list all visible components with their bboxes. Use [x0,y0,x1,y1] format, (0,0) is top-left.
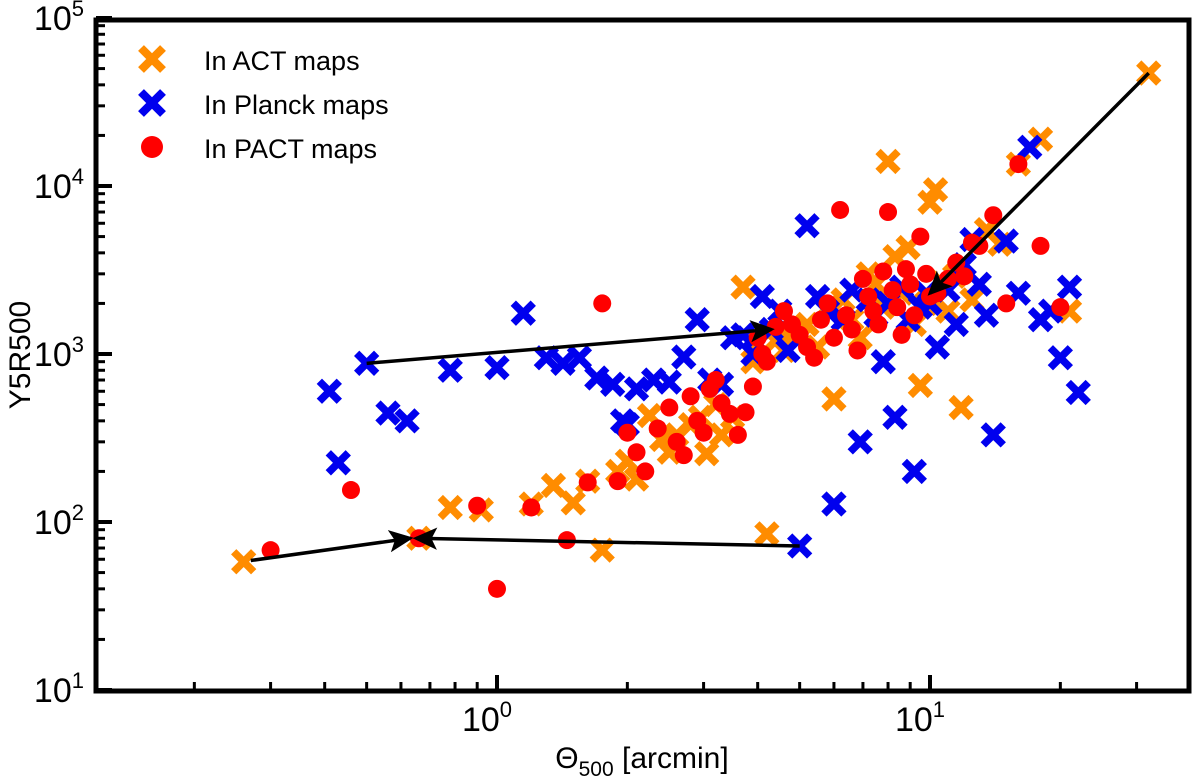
legend-label: In ACT maps [204,46,360,76]
data-point-circle [767,318,785,336]
legend-label: In Planck maps [204,90,389,120]
data-point-circle [628,443,646,461]
data-point-circle [342,481,360,499]
data-point-circle [579,473,597,491]
legend-circle-marker [141,136,163,158]
data-point-circle [805,349,823,367]
data-point-circle [1032,237,1050,255]
data-point-circle [843,320,861,338]
x-axis-label-unit: [arcmin] [614,742,729,775]
data-point-circle [488,580,506,598]
data-point-circle [831,201,849,219]
data-point-circle [593,294,611,312]
data-point-circle [848,341,866,359]
data-point-circle [901,275,919,293]
data-point-circle [758,353,776,371]
data-point-circle [729,426,747,444]
data-point-circle [893,326,911,344]
data-point-circle [468,497,486,515]
data-point-circle [744,378,762,396]
data-point-circle [1009,155,1027,173]
figure-container: 100101101102103104105 Θ500 [arcmin] Y5R5… [0,0,1200,784]
data-point-circle [675,446,693,464]
plot-background [0,0,1200,784]
x-axis-label-subscript: 500 [579,758,614,781]
data-point-circle [660,399,678,417]
data-point-circle [997,294,1015,312]
data-point-circle [884,281,902,299]
data-point-circle [707,371,725,389]
y-axis-label-group: Y5R500 [4,301,37,409]
data-point-circle [888,298,906,316]
data-point-circle [819,294,837,312]
data-point-circle [879,203,897,221]
data-point-circle [522,498,540,516]
data-point-circle [649,420,667,438]
data-point-circle [636,462,654,480]
data-point-circle [737,403,755,421]
data-point-circle [721,405,739,423]
data-point-circle [825,329,843,347]
data-point-circle [905,306,923,324]
data-point-circle [911,228,929,246]
data-point-circle [939,270,957,288]
data-point-circle [609,472,627,490]
data-point-circle [812,311,830,329]
data-point-circle [897,260,915,278]
data-point-circle [1051,298,1069,316]
data-point-circle [618,424,636,442]
x-axis-label-base: Θ [555,742,578,775]
scatter-plot: 100101101102103104105 Θ500 [arcmin] Y5R5… [0,0,1200,784]
data-point-circle [682,387,700,405]
data-point-circle [695,424,713,442]
data-point-circle [955,267,973,285]
data-point-circle [874,262,892,280]
y-axis-label: Y5R500 [4,301,37,409]
legend-label: In PACT maps [204,134,377,164]
data-point-circle [854,270,872,288]
data-point-circle [917,265,935,283]
data-point-circle [869,315,887,333]
